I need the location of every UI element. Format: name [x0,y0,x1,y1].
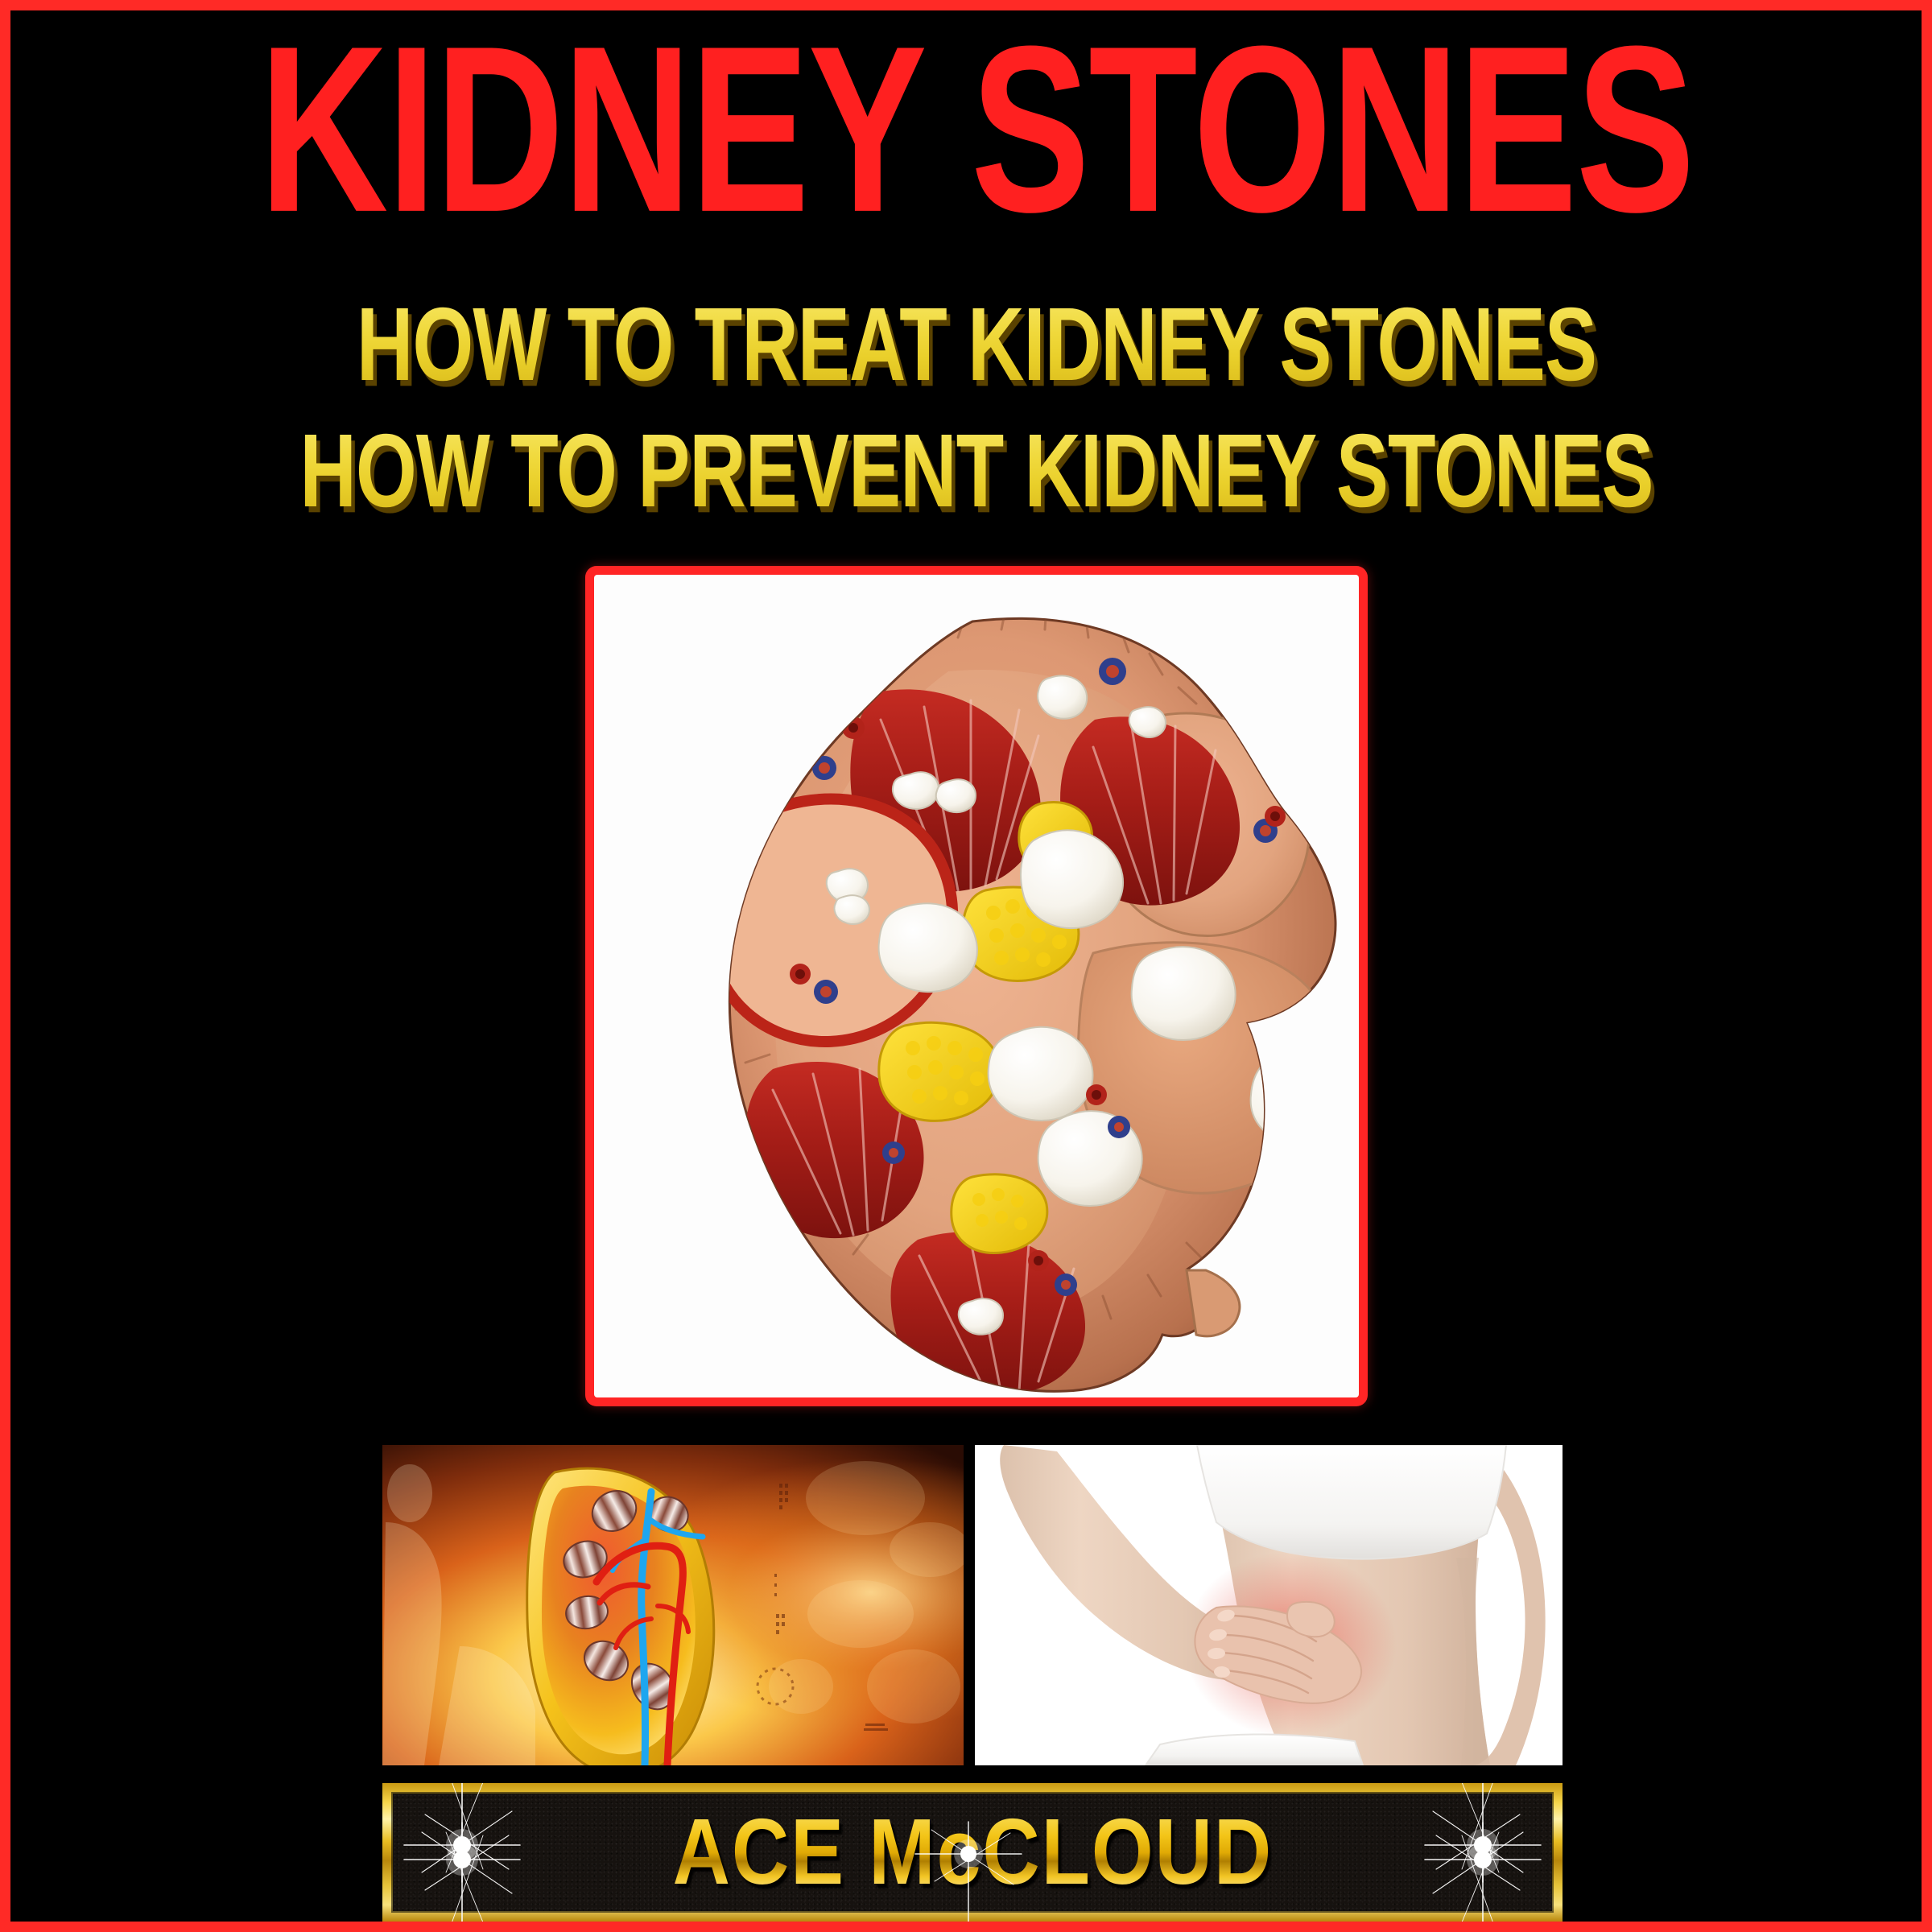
kidney-stone-11 [1251,1051,1351,1143]
kidney-stone-8 [1132,947,1236,1040]
main-image-frame [585,566,1368,1406]
kidney-model-photo [594,575,1359,1397]
sparkle-star-top-right [1418,1795,1547,1922]
sparkle-star-bottom-left [398,1783,526,1909]
kidney-illustration-photo [382,1445,964,1765]
author-name: ACE McCLOUD [672,1798,1272,1905]
title-block: KIDNEY STONES [10,35,1932,200]
sparkle-star-bottom-right [1418,1783,1547,1909]
subtitle-line-2: HOW TO PREVENT KIDNEY STONES [88,417,1865,526]
author-banner: ACE McCLOUD [382,1783,1563,1922]
kidney-stone-3 [936,779,976,812]
page-title: KIDNEY STONES [146,35,1807,224]
kidney-stone-12 [1282,1243,1357,1312]
kidney-stone-7 [879,903,977,992]
sparkle-star-top-left [398,1795,526,1922]
kidney-stone-1 [1038,675,1087,718]
flank-pain-photo [975,1445,1563,1765]
kidney-vessels-illustration-icon [382,1445,964,1765]
kidney-cross-section-icon [594,575,1359,1397]
kidney-stone-2 [893,772,939,809]
book-cover: KIDNEY STONES HOW TO TREAT KIDNEY STONES… [0,0,1932,1932]
subtitle-block: HOW TO TREAT KIDNEY STONES HOW TO PREVEN… [10,291,1932,507]
kidney-stone-6 [835,895,870,924]
author-banner-panel: ACE McCLOUD [393,1794,1552,1911]
kidney-interior [706,605,1357,1396]
kidney-stone-13 [959,1298,1003,1335]
woman-holding-side-icon [975,1445,1563,1765]
ureter [1187,1270,1240,1336]
kidney-stone-14 [1129,707,1166,737]
subtitle-line-1: HOW TO TREAT KIDNEY STONES [88,291,1865,400]
kidney-stone-9 [989,1027,1093,1121]
